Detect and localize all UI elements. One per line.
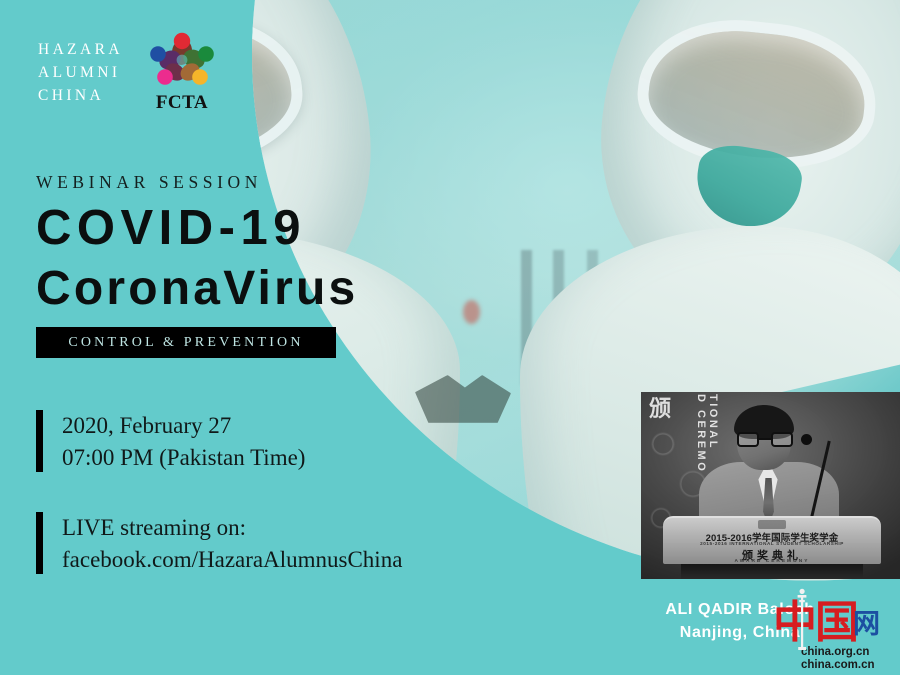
watermark-tower-icon xyxy=(797,587,807,653)
speaker-photo-panel: 颁 TIONAL D CEREMO 2015-2016学年国际学生奖学金 201… xyxy=(641,392,900,579)
fcta-people-circle-icon xyxy=(145,32,219,92)
university-crest-icon xyxy=(758,520,786,529)
brand-header: HAZARA ALUMNI CHINA xyxy=(38,32,219,112)
title-block: WEBINAR SESSION COVID-19 CoronaVirus CON… xyxy=(36,172,358,358)
accent-bar-date xyxy=(36,410,43,472)
china-org-cn-watermark: 中国 网 china.org.cn china.com.cn xyxy=(771,601,896,671)
speaker-glasses-icon xyxy=(737,432,793,447)
stage-banner-english-text: TIONAL D CEREMO xyxy=(697,394,719,473)
subtitle-bar: CONTROL & PREVENTION xyxy=(36,327,336,358)
watermark-net-char: 网 xyxy=(853,611,880,638)
podium: 2015-2016学年国际学生奖学金 2015-2016 INTERNATION… xyxy=(663,516,881,564)
organization-name: HAZARA ALUMNI CHINA xyxy=(38,38,123,107)
watermark-chinese-mark: 中国 xyxy=(773,601,857,645)
podium-scholarship-en: 2015-2016 INTERNATIONAL STUDENT SCHOLARS… xyxy=(663,541,881,546)
headline-covid: COVID-19 xyxy=(36,204,358,253)
headline-corona: CoronaVirus xyxy=(36,265,358,313)
live-stream-text[interactable]: LIVE streaming on: facebook.com/HazaraAl… xyxy=(62,512,402,576)
poster-root: MICRO HAZARA ALUMNI CHINA xyxy=(0,0,900,675)
accent-bar-live xyxy=(36,512,43,574)
event-date-text: 2020, February 27 07:00 PM (Pakistan Tim… xyxy=(62,410,305,474)
live-stream-block[interactable]: LIVE streaming on: facebook.com/HazaraAl… xyxy=(36,512,402,576)
fcta-logo-label: FCTA xyxy=(145,92,219,114)
podium-base xyxy=(681,564,863,579)
fcta-logo: FCTA xyxy=(145,32,219,112)
stage-banner-chinese-char: 颁 xyxy=(649,398,671,420)
eyebrow-label: WEBINAR SESSION xyxy=(36,172,358,193)
microphone-head-icon xyxy=(801,434,812,445)
subtitle-label: CONTROL & PREVENTION xyxy=(68,335,303,350)
equipment-indicator-light xyxy=(463,300,480,324)
event-date-block: 2020, February 27 07:00 PM (Pakistan Tim… xyxy=(36,410,305,474)
watermark-urls: china.org.cn china.com.cn xyxy=(801,646,875,671)
